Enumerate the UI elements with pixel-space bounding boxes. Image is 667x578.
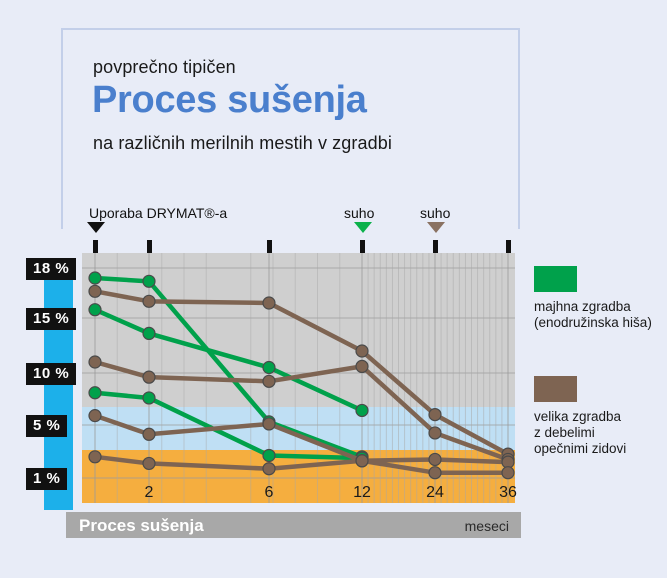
data-point xyxy=(143,327,155,339)
data-point xyxy=(143,457,155,469)
data-point xyxy=(143,275,155,287)
data-point xyxy=(429,409,441,421)
x-axis-label-2: 2 xyxy=(145,484,154,502)
data-point xyxy=(89,272,101,284)
footer-bar: Proces sušenja meseci xyxy=(66,512,521,538)
x-axis-label-6: 6 xyxy=(265,484,274,502)
data-point xyxy=(263,418,275,430)
y-axis-label-10: 10 % xyxy=(26,363,76,385)
data-point xyxy=(89,356,101,368)
data-point xyxy=(263,362,275,374)
footer-unit: meseci xyxy=(465,518,509,534)
axis-tick-stub-12 xyxy=(360,240,365,253)
legend-label-large-building: velika zgradba z debelimi opečnimi zidov… xyxy=(534,409,626,457)
data-point xyxy=(263,449,275,461)
data-point xyxy=(356,455,368,467)
data-point xyxy=(502,467,514,479)
axis-tick-stub-2 xyxy=(147,240,152,253)
data-point xyxy=(143,392,155,404)
axis-tick-stub-6 xyxy=(267,240,272,253)
axis-tick-stub-0 xyxy=(93,240,98,253)
chart-series-layer xyxy=(82,253,515,503)
y-axis-label-1: 1 % xyxy=(26,468,67,490)
legend-label-small-building: majhna zgradba (enodružinska hiša) xyxy=(534,299,652,331)
header-subtitle: na različnih merilnih mestih v zgradbi xyxy=(93,133,392,154)
y-axis-label-18: 18 % xyxy=(26,258,76,280)
data-point xyxy=(143,428,155,440)
legend-swatch-large-building xyxy=(534,376,577,402)
data-point xyxy=(429,427,441,439)
triangle-down-icon-apply xyxy=(87,222,105,233)
data-point xyxy=(263,375,275,387)
data-point xyxy=(429,467,441,479)
data-point xyxy=(143,371,155,383)
axis-tick-stub-24 xyxy=(433,240,438,253)
data-point xyxy=(263,297,275,309)
data-point xyxy=(356,345,368,357)
legend-swatch-small-building xyxy=(534,266,577,292)
series-line-4 xyxy=(95,362,508,459)
data-point xyxy=(89,285,101,297)
annotation-label-apply: Uporaba DRYMAT®-a xyxy=(89,205,227,221)
data-point xyxy=(89,410,101,422)
annotation-label-dry-large: suho xyxy=(420,205,450,221)
header-kicker: povprečno tipičen xyxy=(93,57,236,78)
page-title: Proces sušenja xyxy=(92,79,367,122)
y-axis-label-5: 5 % xyxy=(26,415,67,437)
chart-plot-area xyxy=(82,253,515,503)
data-point xyxy=(89,304,101,316)
data-point xyxy=(356,360,368,372)
data-point xyxy=(356,404,368,416)
series-line-3 xyxy=(95,291,508,454)
data-point xyxy=(89,387,101,399)
x-axis-label-36: 36 xyxy=(499,484,517,502)
annotation-label-dry-small: suho xyxy=(344,205,374,221)
data-point xyxy=(89,451,101,463)
triangle-down-icon-dry-large xyxy=(427,222,445,233)
y-axis-label-15: 15 % xyxy=(26,308,76,330)
triangle-down-icon-dry-small xyxy=(354,222,372,233)
x-axis-label-24: 24 xyxy=(426,484,444,502)
x-axis-label-12: 12 xyxy=(353,484,371,502)
footer-title: Proces sušenja xyxy=(79,516,204,536)
data-point xyxy=(429,453,441,465)
axis-tick-stub-36 xyxy=(506,240,511,253)
data-point xyxy=(143,295,155,307)
data-point xyxy=(263,463,275,475)
infographic-root: povprečno tipičen Proces sušenja na razl… xyxy=(0,0,667,578)
